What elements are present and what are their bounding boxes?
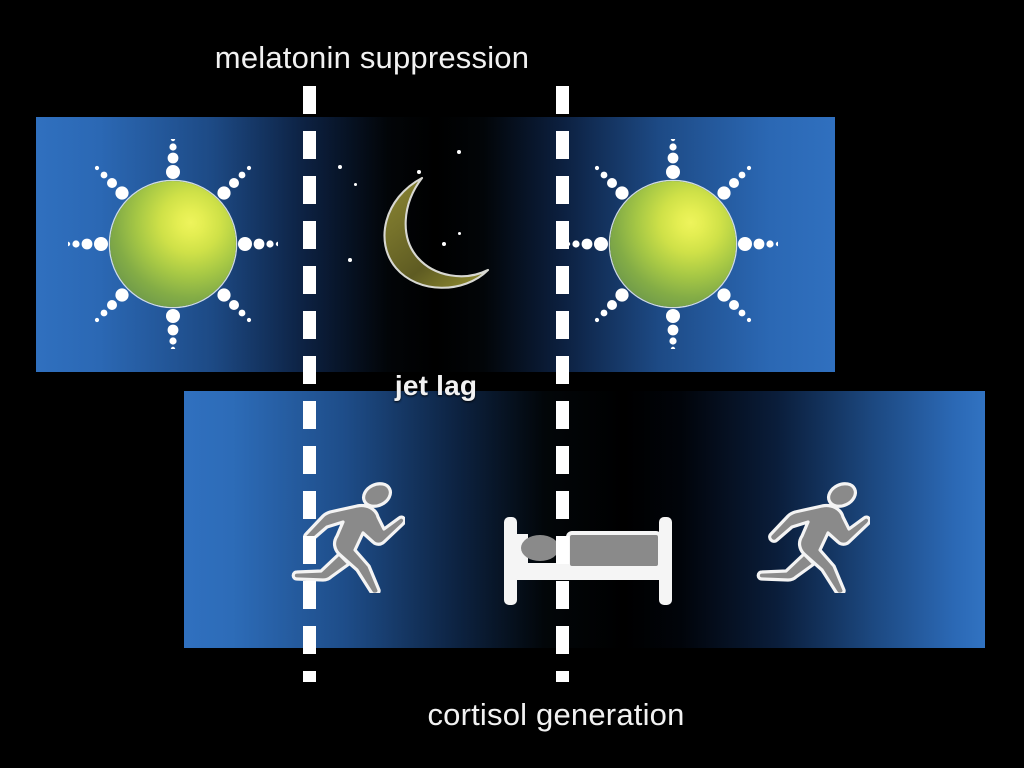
sun-icon [568, 139, 778, 349]
jet-lag-label: jet lag [0, 370, 948, 402]
night-sky-group [360, 170, 515, 300]
crescent-moon-icon [360, 170, 515, 300]
bottom-caption: cortisol generation [44, 697, 1024, 733]
star-icon [348, 258, 352, 262]
sun-rays [568, 139, 778, 349]
page-title: melatonin suppression [0, 40, 884, 76]
star-icon [338, 165, 342, 169]
running-person-icon [748, 478, 870, 593]
running-person-icon [283, 478, 405, 593]
sun-icon [68, 139, 278, 349]
bed-sleeping-icon [500, 513, 676, 613]
sun-rays [68, 139, 278, 349]
diagram-canvas: melatonin suppression [0, 0, 1024, 768]
